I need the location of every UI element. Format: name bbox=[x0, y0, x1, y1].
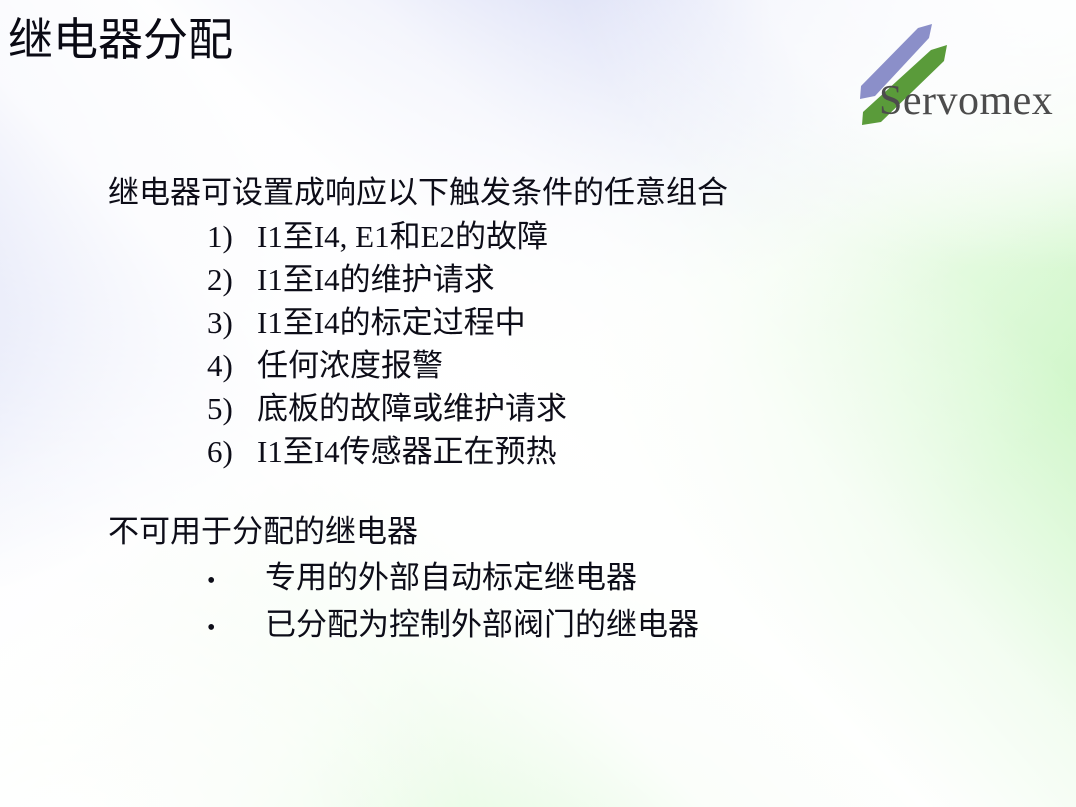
list-item-marker: 6) bbox=[207, 430, 257, 473]
list-item: 1) I1至I4, E1和E2的故障 bbox=[207, 215, 567, 258]
trigger-conditions-list: 1) I1至I4, E1和E2的故障 2) I1至I4的维护请求 3) I1至I… bbox=[207, 215, 567, 473]
bullet-dot-icon: • bbox=[207, 559, 265, 603]
list-item-marker: 5) bbox=[207, 387, 257, 430]
list-item-label: I1至I4的维护请求 bbox=[257, 258, 495, 301]
list-item: 5) 底板的故障或维护请求 bbox=[207, 387, 567, 430]
list-item: • 已分配为控制外部阀门的继电器 bbox=[207, 603, 699, 650]
list-item-label: I1至I4的标定过程中 bbox=[257, 301, 526, 344]
intro-paragraph-2: 不可用于分配的继电器 bbox=[108, 512, 418, 552]
list-item: • 专用的外部自动标定继电器 bbox=[207, 556, 699, 603]
list-item-label: I1至I4传感器正在预热 bbox=[257, 430, 557, 473]
list-item-label: I1至I4, E1和E2的故障 bbox=[257, 215, 548, 258]
presentation-slide: 继电器分配 Servomex 继电器可设置成响应以下触发条件的任意组合 1) I… bbox=[0, 0, 1076, 807]
list-item-label: 任何浓度报警 bbox=[257, 344, 443, 387]
list-item-marker: 2) bbox=[207, 258, 257, 301]
list-item-marker: 3) bbox=[207, 301, 257, 344]
list-item: 2) I1至I4的维护请求 bbox=[207, 258, 567, 301]
bullet-dot-icon: • bbox=[207, 606, 265, 650]
list-item: 3) I1至I4的标定过程中 bbox=[207, 301, 567, 344]
unavailable-relays-list: • 专用的外部自动标定继电器 • 已分配为控制外部阀门的继电器 bbox=[207, 556, 699, 650]
list-item-label: 专用的外部自动标定继电器 bbox=[265, 556, 637, 600]
list-item-marker: 1) bbox=[207, 215, 257, 258]
list-item-marker: 4) bbox=[207, 344, 257, 387]
list-item-label: 已分配为控制外部阀门的继电器 bbox=[265, 603, 699, 647]
list-item-label: 底板的故障或维护请求 bbox=[257, 387, 567, 430]
list-item: 4) 任何浓度报警 bbox=[207, 344, 567, 387]
intro-paragraph-1: 继电器可设置成响应以下触发条件的任意组合 bbox=[108, 173, 728, 213]
list-item: 6) I1至I4传感器正在预热 bbox=[207, 430, 567, 473]
slide-body: 继电器可设置成响应以下触发条件的任意组合 1) I1至I4, E1和E2的故障 … bbox=[0, 0, 1076, 807]
